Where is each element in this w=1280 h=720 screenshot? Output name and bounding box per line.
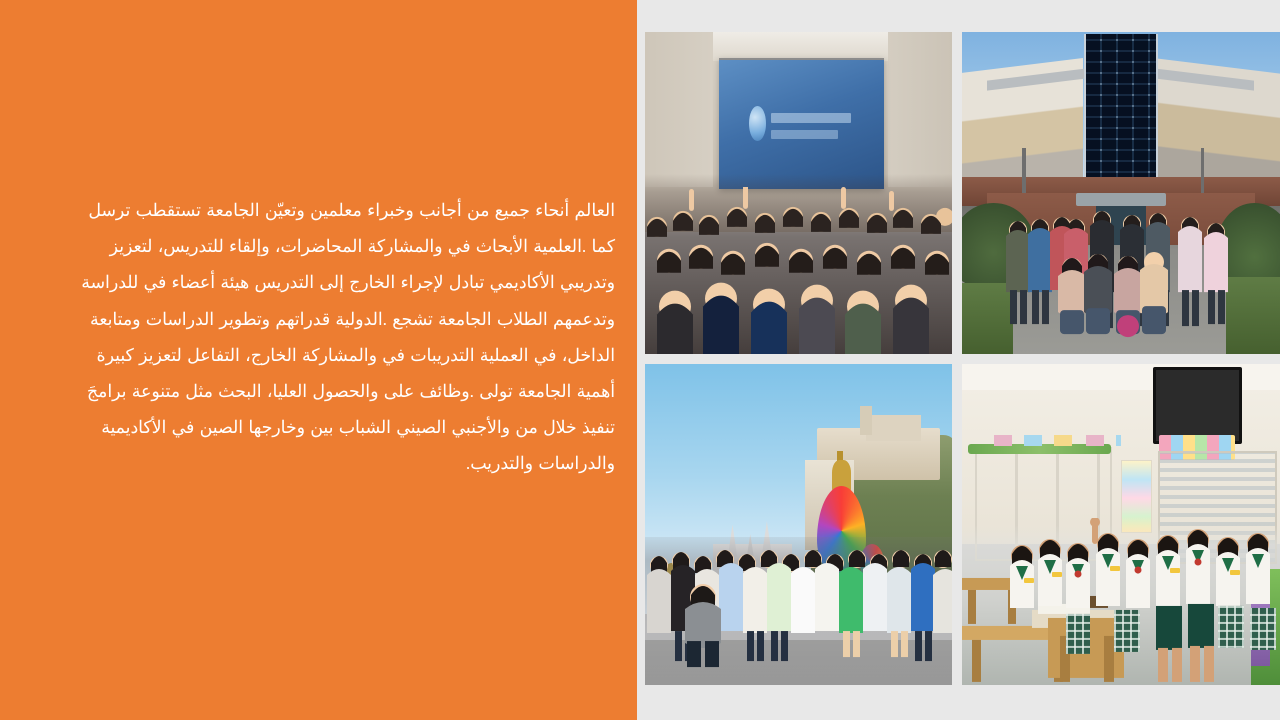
fortress-upper-block	[866, 415, 921, 441]
screen-title-line	[771, 113, 851, 123]
photo-grid	[645, 32, 1280, 685]
crowd-people	[645, 187, 952, 354]
schoolchildren	[962, 518, 1280, 685]
left-wall	[645, 32, 713, 187]
screen-subtitle-line	[771, 130, 839, 139]
tour-group-people	[645, 531, 952, 685]
photo-classroom-children	[962, 364, 1280, 685]
student-group	[962, 206, 1280, 354]
entrance-awning	[1076, 193, 1165, 206]
slide-body-text: العالم أنحاء جميع من أجانب وخبراء معلمين…	[70, 193, 615, 483]
orange-text-panel: العالم أنحاء جميع من أجانب وخبراء معلمين…	[0, 0, 637, 720]
wall-mounted-tv	[1153, 367, 1242, 444]
right-wall	[888, 32, 952, 187]
photo-conference-group	[645, 32, 952, 354]
projector-screen	[719, 58, 885, 189]
wall-cards-left	[994, 435, 1121, 446]
photo-castle-tour-group	[645, 364, 952, 685]
fortress-tower	[860, 406, 872, 435]
presentation-slide: العالم أنحاء جميع من أجانب وخبراء معلمين…	[0, 0, 1280, 720]
photo-campus-building-students	[962, 32, 1280, 354]
